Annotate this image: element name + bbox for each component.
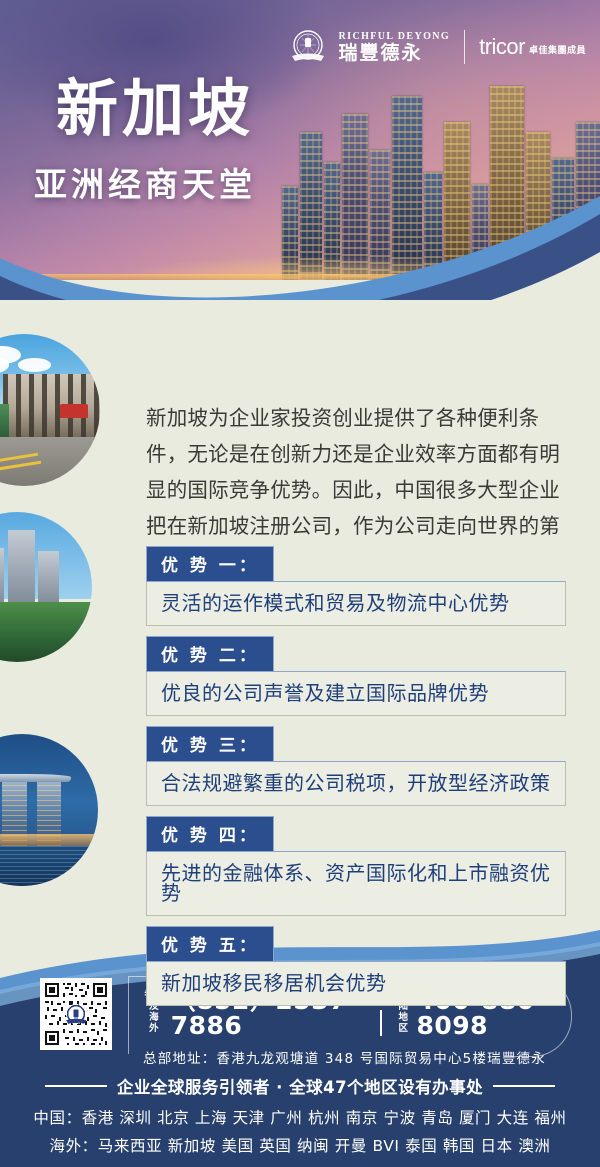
page-title: 新加坡 xyxy=(56,78,254,140)
brand-name-en: RICHFUL DEYONG xyxy=(339,32,451,42)
office-address: 总部地址：香港九龙观塘道 348 号国际贸易中心5楼瑞豐德永 xyxy=(143,1047,568,1067)
tagline-rule-left xyxy=(45,1085,107,1087)
advantage-label: 优 势 二： xyxy=(146,636,274,672)
advantage-item: 优 势 一： 灵活的运作模式和贸易及物流中心优势 xyxy=(146,546,566,626)
advantage-label: 优 势 五： xyxy=(146,926,274,962)
richful-deyong-crest-icon xyxy=(287,26,329,68)
brand-name-block: RICHFUL DEYONG 瑞豐德永 xyxy=(339,32,451,63)
advantage-label: 优 势 一： xyxy=(146,546,274,582)
advantage-list: 优 势 一： 灵活的运作模式和贸易及物流中心优势 优 势 二： 优良的公司声誉及… xyxy=(146,546,566,1016)
advantage-label: 优 势 三： xyxy=(146,726,274,762)
logo-divider xyxy=(464,30,465,64)
singapore-city-greenery-photo xyxy=(0,512,92,662)
advantage-label: 优 势 四： xyxy=(146,816,274,852)
advantage-item: 优 势 四： 先进的金融体系、资产国际化和上市融资优势 xyxy=(146,816,566,916)
brand-logo: RICHFUL DEYONG 瑞豐德永 tricor 卓佳集團成員 xyxy=(287,26,586,68)
partner-name-cn: 卓佳集團成員 xyxy=(529,43,586,58)
advantage-item: 优 势 二： 优良的公司声誉及建立国际品牌优势 xyxy=(146,636,566,716)
singapore-shophouse-street-photo xyxy=(0,334,100,486)
tagline-text: 企业全球服务引领者 · 全球47个地区设有办事处 xyxy=(117,1074,483,1098)
qr-code-icon xyxy=(40,978,112,1050)
partner-name: tricor xyxy=(479,36,525,58)
locations-china: 中国：香港 深圳 北京 上海 天津 广州 杭州 南京 宁波 青岛 厦门 大连 福… xyxy=(0,1106,600,1128)
locations-overseas: 海外：马来西亚 新加坡 美国 英国 纳闽 开曼 BVI 泰国 韩国 日本 澳洲 xyxy=(0,1134,600,1156)
advantage-text: 合法规避繁重的公司税项，开放型经济政策 xyxy=(146,761,566,806)
brand-name-cn: 瑞豐德永 xyxy=(339,44,451,63)
advantage-text: 优良的公司声誉及建立国际品牌优势 xyxy=(146,671,566,716)
partner-logo: tricor 卓佳集團成員 xyxy=(479,36,586,58)
advantage-item: 优 势 五： 新加坡移民移居机会优势 xyxy=(146,926,566,1006)
marina-bay-sands-photo xyxy=(0,734,98,886)
header-hero: 新加坡 亚洲经商天堂 RICHFUL DEYONG 瑞豐德永 tricor 卓佳… xyxy=(0,0,600,300)
tagline-rule-right xyxy=(493,1085,555,1087)
tagline-row: 企业全球服务引领者 · 全球47个地区设有办事处 xyxy=(0,1074,600,1098)
page-subtitle: 亚洲经商天堂 xyxy=(34,168,256,201)
advantage-text: 新加坡移民移居机会优势 xyxy=(146,961,566,1006)
advantage-text: 灵活的运作模式和贸易及物流中心优势 xyxy=(146,581,566,626)
poster-root: 新加坡 亚洲经商天堂 RICHFUL DEYONG 瑞豐德永 tricor 卓佳… xyxy=(0,0,600,1167)
advantage-text: 先进的金融体系、资产国际化和上市融资优势 xyxy=(146,851,566,916)
advantage-item: 优 势 三： 合法规避繁重的公司税项，开放型经济政策 xyxy=(146,726,566,806)
